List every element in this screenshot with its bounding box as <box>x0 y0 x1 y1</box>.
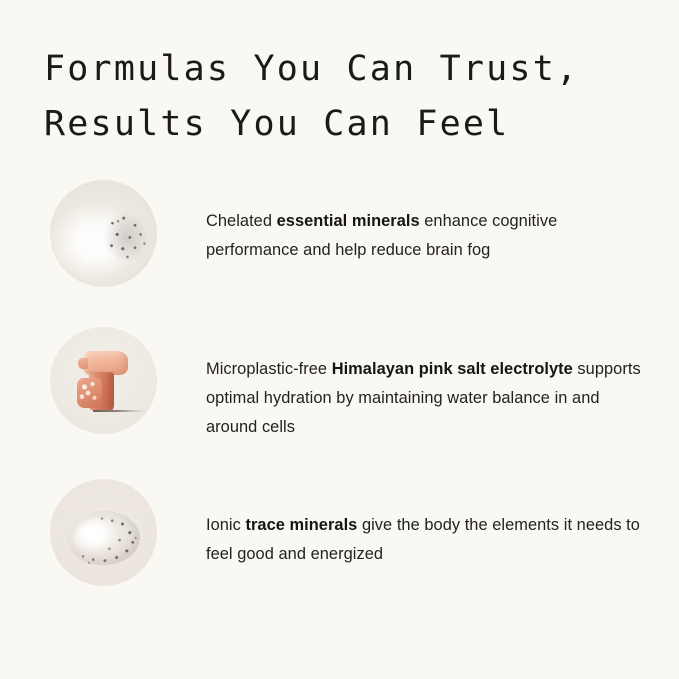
marketing-panel: Formulas You Can Trust, Results You Can … <box>0 0 679 679</box>
list-item: Microplastic-free Himalayan pink salt el… <box>0 327 679 479</box>
feature-thumbnail-wrap <box>0 479 206 586</box>
trace-minerals-image <box>50 479 157 586</box>
feature-thumbnail-wrap <box>0 180 206 287</box>
feature-text-before: Chelated <box>206 212 277 230</box>
himalayan-pink-salt-image <box>50 327 157 434</box>
list-item: Chelated essential minerals enhance cogn… <box>0 180 679 327</box>
essential-minerals-image <box>50 180 157 287</box>
feature-text-before: Microplastic-free <box>206 360 332 378</box>
feature-text-bold: essential minerals <box>277 212 420 230</box>
salt-crystal-crust <box>77 378 103 408</box>
feature-text-before: Ionic <box>206 516 245 534</box>
feature-copy: Chelated essential minerals enhance cogn… <box>206 180 679 265</box>
feature-list: Chelated essential minerals enhance cogn… <box>0 180 679 629</box>
page-title: Formulas You Can Trust, Results You Can … <box>44 42 644 152</box>
feature-text-bold: Himalayan pink salt electrolyte <box>332 360 573 378</box>
feature-copy: Ionic trace minerals give the body the e… <box>206 479 679 569</box>
feature-text-bold: trace minerals <box>245 516 357 534</box>
feature-thumbnail-wrap <box>0 327 206 434</box>
feature-copy: Microplastic-free Himalayan pink salt el… <box>206 327 679 442</box>
salt-shadow-line <box>93 410 149 412</box>
list-item: Ionic trace minerals give the body the e… <box>0 479 679 629</box>
powder-granule-ring <box>67 511 140 565</box>
